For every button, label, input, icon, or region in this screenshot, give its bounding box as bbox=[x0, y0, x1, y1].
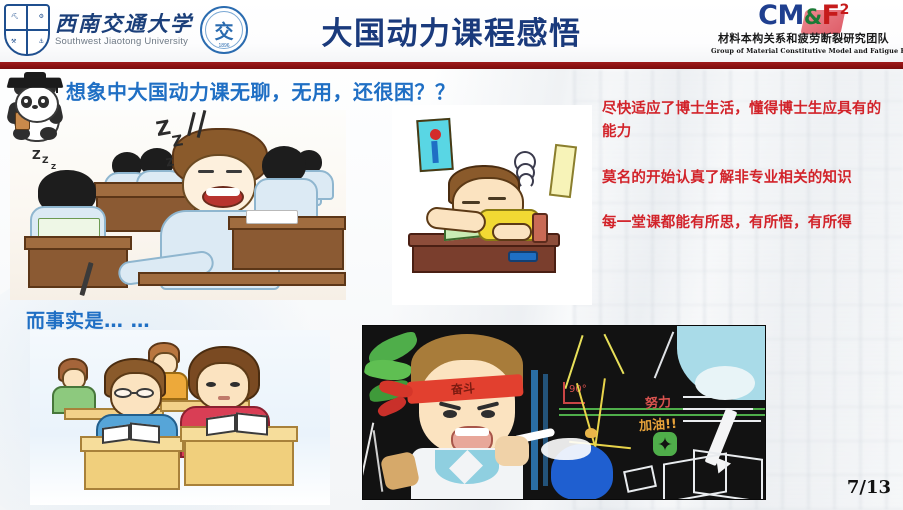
insight-note: 莫名的开始认真了解非专业相关的知识 bbox=[602, 167, 894, 190]
acronym-f: F bbox=[822, 0, 840, 31]
group-acronym: CM&F2 bbox=[758, 2, 849, 29]
page-number: 7/13 bbox=[847, 477, 891, 498]
acronym-cm: CM bbox=[758, 0, 804, 31]
insight-note: 尽快适应了博士生活，懂得博士生应具有的能力 bbox=[602, 98, 894, 145]
slide-canvas: ⛏⚙ ⚒⚓ 西南交通大学 Southwest Jiaotong Universi… bbox=[0, 0, 903, 510]
chalk-effort-label: 努力 bbox=[644, 391, 671, 412]
header-divider bbox=[0, 62, 903, 69]
acronym-ampersand: & bbox=[804, 5, 822, 29]
research-group-logo: CM&F2 材料本构关系和疲劳断裂研究团队 Group of Material … bbox=[711, 2, 896, 55]
illustration-blackboard-striver: 90° 努力 加油!! bbox=[362, 325, 766, 500]
illustration-napping-on-book bbox=[392, 105, 592, 305]
group-name-cn: 材料本构关系和疲劳断裂研究团队 bbox=[711, 30, 896, 46]
acronym-superscript: 2 bbox=[840, 2, 849, 18]
illustration-attentive-students bbox=[30, 330, 330, 505]
insight-note: 每一堂课都能有所思，有所悟，有所得 bbox=[602, 212, 894, 235]
headband-text: 奋斗 bbox=[432, 376, 493, 402]
group-name-en: Group of Material Constitutive Model and… bbox=[711, 47, 896, 55]
headline-question: 想象中大国动力课无聊，无用，还很困？？ bbox=[66, 76, 456, 105]
insight-notes-list: 尽快适应了博士生活，懂得博士生应具有的能力 莫名的开始认真了解非专业相关的知识 … bbox=[602, 98, 894, 236]
slide-header: ⛏⚙ ⚒⚓ 西南交通大学 Southwest Jiaotong Universi… bbox=[0, 0, 903, 62]
panda-graduate-icon bbox=[6, 72, 64, 146]
subheadline-reality: 而事实是… … bbox=[26, 306, 150, 333]
